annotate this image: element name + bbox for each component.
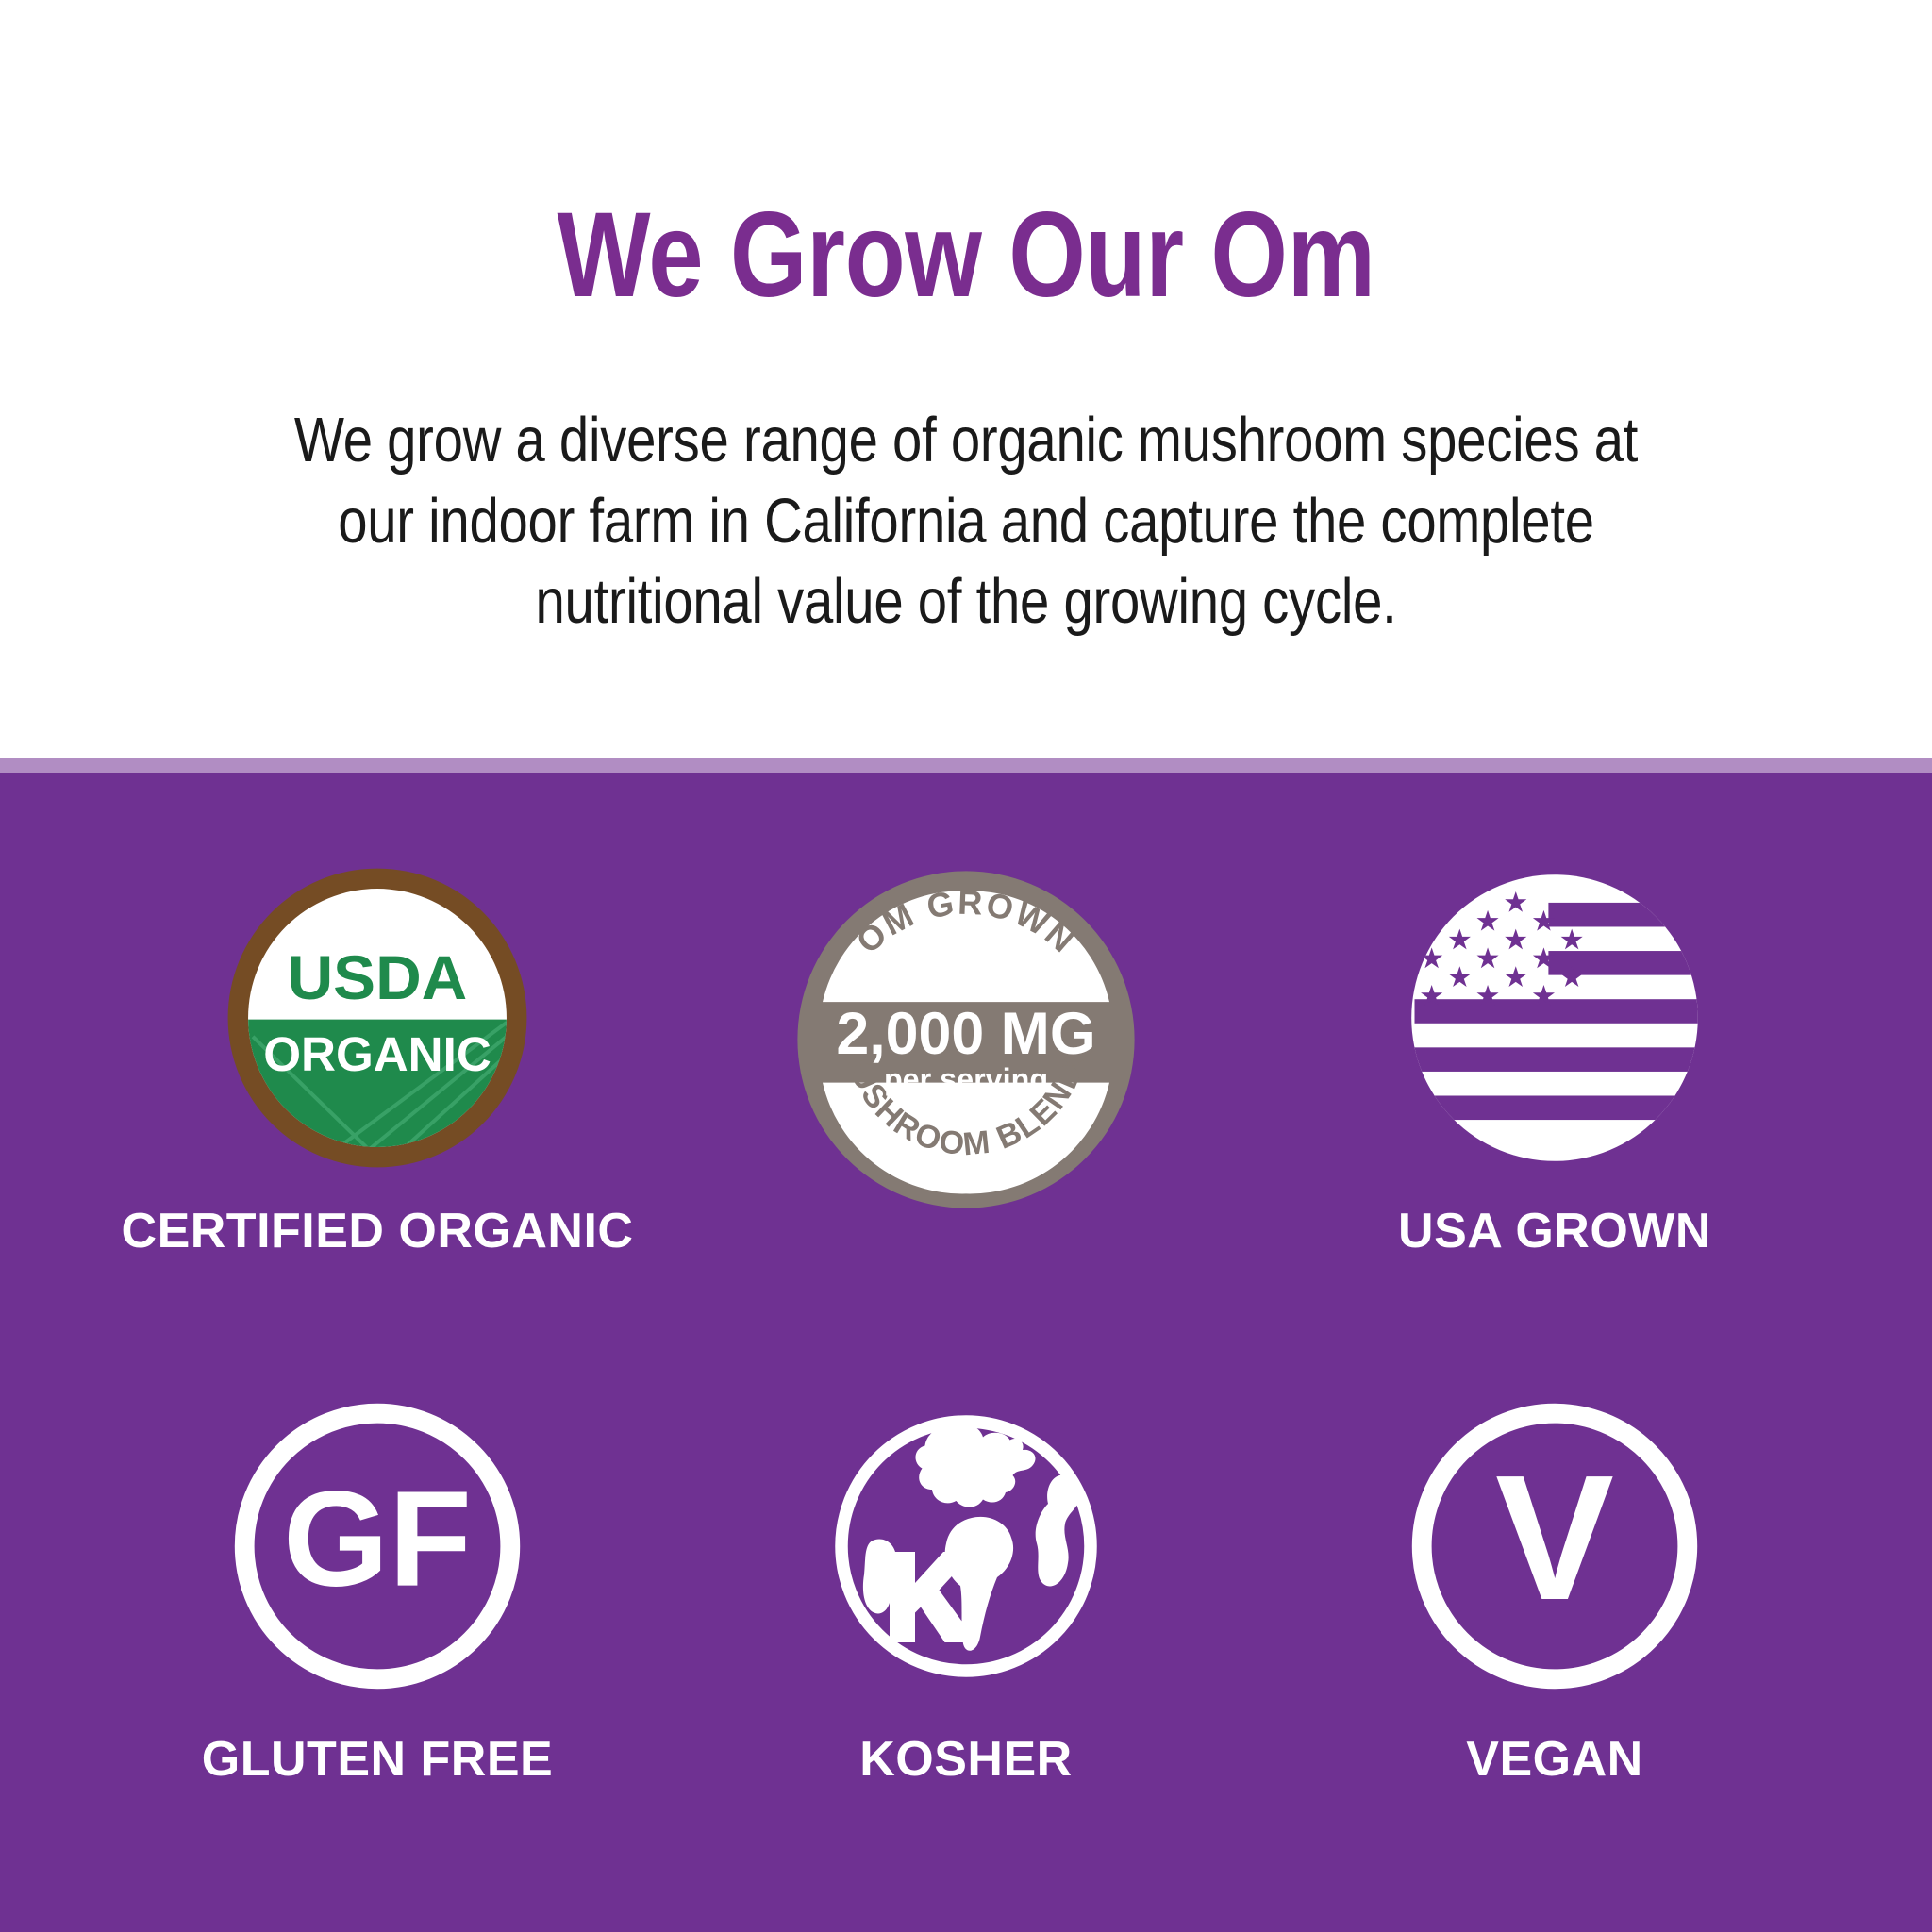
promo-graphic: We Grow Our Om We grow a diverse range o… (0, 0, 1932, 1932)
badge-usa-grown: USA GROWN (1291, 848, 1819, 1256)
badge-label-vegan: VEGAN (1291, 1735, 1819, 1784)
vegan-mark-text: V (1495, 1439, 1614, 1638)
om-grown-subtext: per serving (884, 1062, 1048, 1096)
badge-label-certified-organic: CERTIFIED ORGANIC (113, 1207, 641, 1256)
badge-label-kosher: KOSHER (702, 1735, 1230, 1784)
intro-paragraph: We grow a diverse range of organic mushr… (253, 400, 1679, 642)
om-grown-amount-text: 2,000 MG (836, 1001, 1095, 1067)
usda-seal-top-text: USDA (288, 944, 468, 1013)
kosher-globe-icon (702, 1376, 1230, 1716)
vegan-circle-icon: V (1291, 1376, 1819, 1716)
intro-section: We Grow Our Om We grow a diverse range o… (0, 0, 1932, 758)
gluten-free-circle-icon: GF (113, 1376, 641, 1716)
om-grown-seal-icon: OM GROWN MUSHROOM BLEND® 2,000 MG per se… (702, 848, 1230, 1225)
badge-label-usa-grown: USA GROWN (1291, 1207, 1819, 1256)
badge-vegan: V VEGAN (1291, 1376, 1819, 1784)
usda-organic-seal-icon: USDA ORGANIC (113, 848, 641, 1188)
usda-seal-bottom-text: ORGANIC (263, 1027, 491, 1081)
page-title: We Grow Our Om (174, 192, 1757, 319)
usa-flag-circle-icon (1291, 848, 1819, 1188)
badge-gluten-free: GF GLUTEN FREE (113, 1376, 641, 1784)
badge-om-grown: OM GROWN MUSHROOM BLEND® 2,000 MG per se… (702, 848, 1230, 1244)
badge-label-gluten-free: GLUTEN FREE (113, 1735, 641, 1784)
badge-certified-organic: USDA ORGANIC CERTIFIED ORGANIC (113, 848, 641, 1256)
section-divider (0, 758, 1932, 773)
certification-badges-section: USDA ORGANIC CERTIFIED ORGANIC (0, 773, 1932, 1932)
gluten-free-mark-text: GF (283, 1463, 472, 1615)
badge-kosher: KOSHER (702, 1376, 1230, 1784)
badge-grid: USDA ORGANIC CERTIFIED ORGANIC (0, 773, 1932, 1932)
